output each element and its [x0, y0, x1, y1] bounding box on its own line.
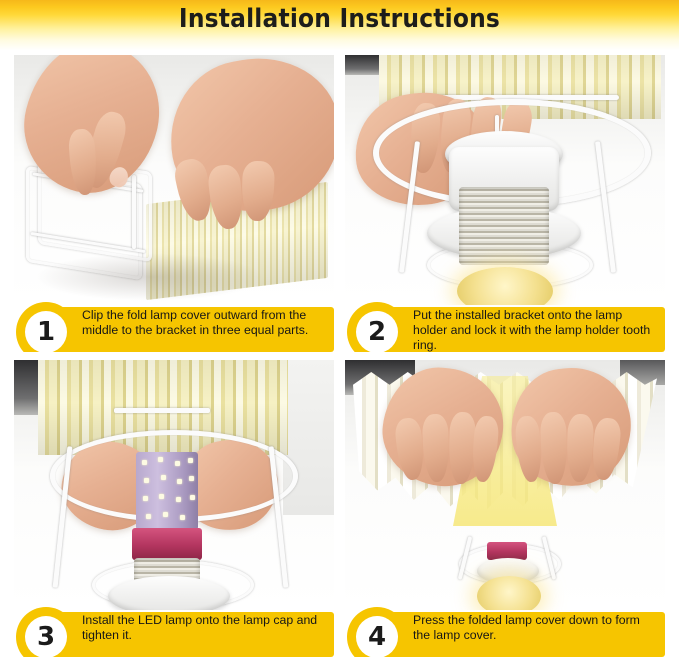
step-1-badge-inner: 1 — [25, 311, 67, 352]
step-3-badge-inner: 3 — [25, 616, 67, 657]
step-4-caption-text: Press the folded lamp cover down to form… — [413, 613, 659, 643]
step-1-photo — [14, 55, 334, 305]
cover-retainer-rod — [114, 408, 210, 413]
step-2-caption-text: Put the installed bracket onto the lamp … — [413, 308, 659, 352]
step-2-photo — [345, 55, 665, 305]
steps-grid: Clip the fold lamp cover outward from th… — [14, 55, 665, 662]
led-chip — [180, 515, 185, 520]
step-card-2: Put the installed bracket onto the lamp … — [345, 55, 665, 352]
led-chip — [161, 475, 166, 480]
page-title: Installation Instructions — [34, 4, 645, 34]
led-chip — [175, 461, 180, 466]
led-chip — [177, 479, 182, 484]
led-chip — [190, 495, 195, 500]
step-2-caption: Put the installed bracket onto the lamp … — [345, 300, 665, 352]
led-chip — [163, 512, 168, 517]
step-1-number: 1 — [25, 311, 67, 352]
step-2-number: 2 — [356, 311, 398, 352]
led-lamp-body — [136, 452, 198, 530]
led-chip — [159, 494, 164, 499]
step-1-caption: Clip the fold lamp cover outward from th… — [14, 300, 334, 352]
step-3-caption-text: Install the LED lamp onto the lamp cap a… — [82, 613, 328, 643]
header-banner: Installation Instructions — [0, 0, 679, 50]
step-4-caption: Press the folded lamp cover down to form… — [345, 605, 665, 657]
step-1-caption-text: Clip the fold lamp cover outward from th… — [82, 308, 328, 338]
instruction-sheet: Installation Instructions — [0, 0, 679, 670]
led-chip — [188, 458, 193, 463]
step-4-photo — [345, 360, 665, 610]
led-lamp-base — [132, 528, 202, 560]
led-chip — [146, 514, 151, 519]
step-4-badge-inner: 4 — [356, 616, 398, 657]
table-shadow — [34, 253, 264, 301]
led-chip — [189, 476, 194, 481]
step-3-caption: Install the LED lamp onto the lamp cap a… — [14, 605, 334, 657]
wire-bracket-clip — [132, 175, 136, 249]
led-chip — [158, 457, 163, 462]
led-chip — [143, 496, 148, 501]
step-4-number: 4 — [356, 616, 398, 657]
step-card-1: Clip the fold lamp cover outward from th… — [14, 55, 334, 352]
led-chip — [142, 460, 147, 465]
step-card-4: Press the folded lamp cover down to form… — [345, 360, 665, 657]
led-chip — [144, 478, 149, 483]
step-3-number: 3 — [25, 616, 67, 657]
led-chip — [176, 497, 181, 502]
lamp-holder-threads — [459, 187, 549, 265]
step-2-badge-inner: 2 — [356, 311, 398, 352]
step-card-3: Install the LED lamp onto the lamp cap a… — [14, 360, 334, 657]
step-3-photo — [14, 360, 334, 610]
